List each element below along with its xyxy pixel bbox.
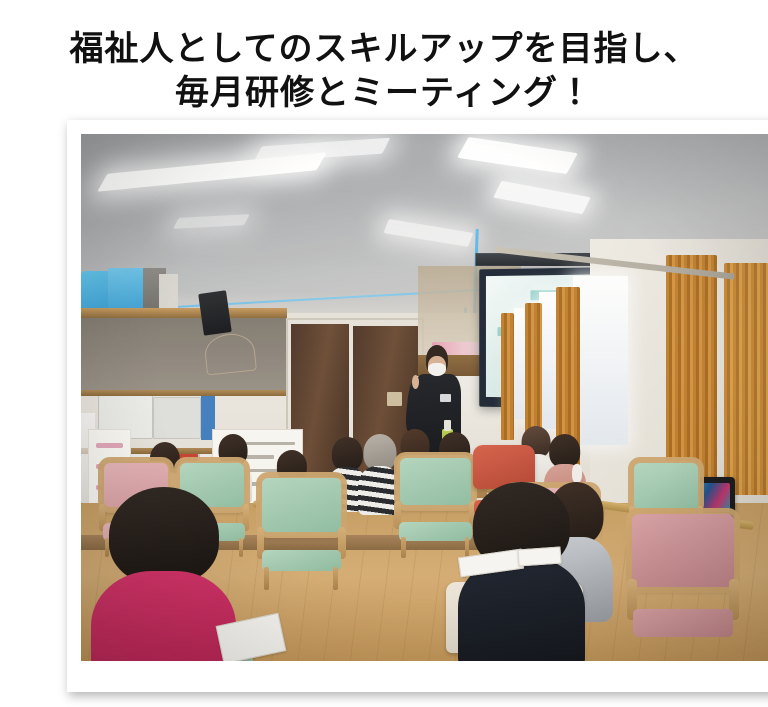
chair[interactable] [631,513,734,650]
door-knob[interactable] [387,392,402,406]
participant-foreground [109,487,219,661]
blue-storage-box [108,268,145,308]
face-mask-icon [572,464,583,483]
shelf-shadow [81,318,287,389]
page-title-line-1: 福祉人としてのスキルアップを目指し、 [0,27,768,71]
white-box [159,274,178,311]
page-title-line-2: 毎月研修とミーティング！ [0,71,768,115]
curtain [724,263,768,495]
curtain [501,313,515,439]
photo-scene [81,134,768,661]
page-root: 福祉人としてのスキルアップを目指し、 毎月研修とミーティング！ [0,0,768,707]
chair[interactable] [397,455,473,550]
photo-frame [67,120,768,692]
shelf-board [81,308,287,319]
window [573,276,628,445]
meeting-photo [81,134,768,661]
handout-paper [517,546,561,566]
chair[interactable] [260,477,343,582]
page-title: 福祉人としてのスキルアップを目指し、 毎月研修とミーティング！ [0,27,768,115]
shelf-board [81,390,287,397]
participant [363,434,396,513]
storage-bin [153,397,200,439]
